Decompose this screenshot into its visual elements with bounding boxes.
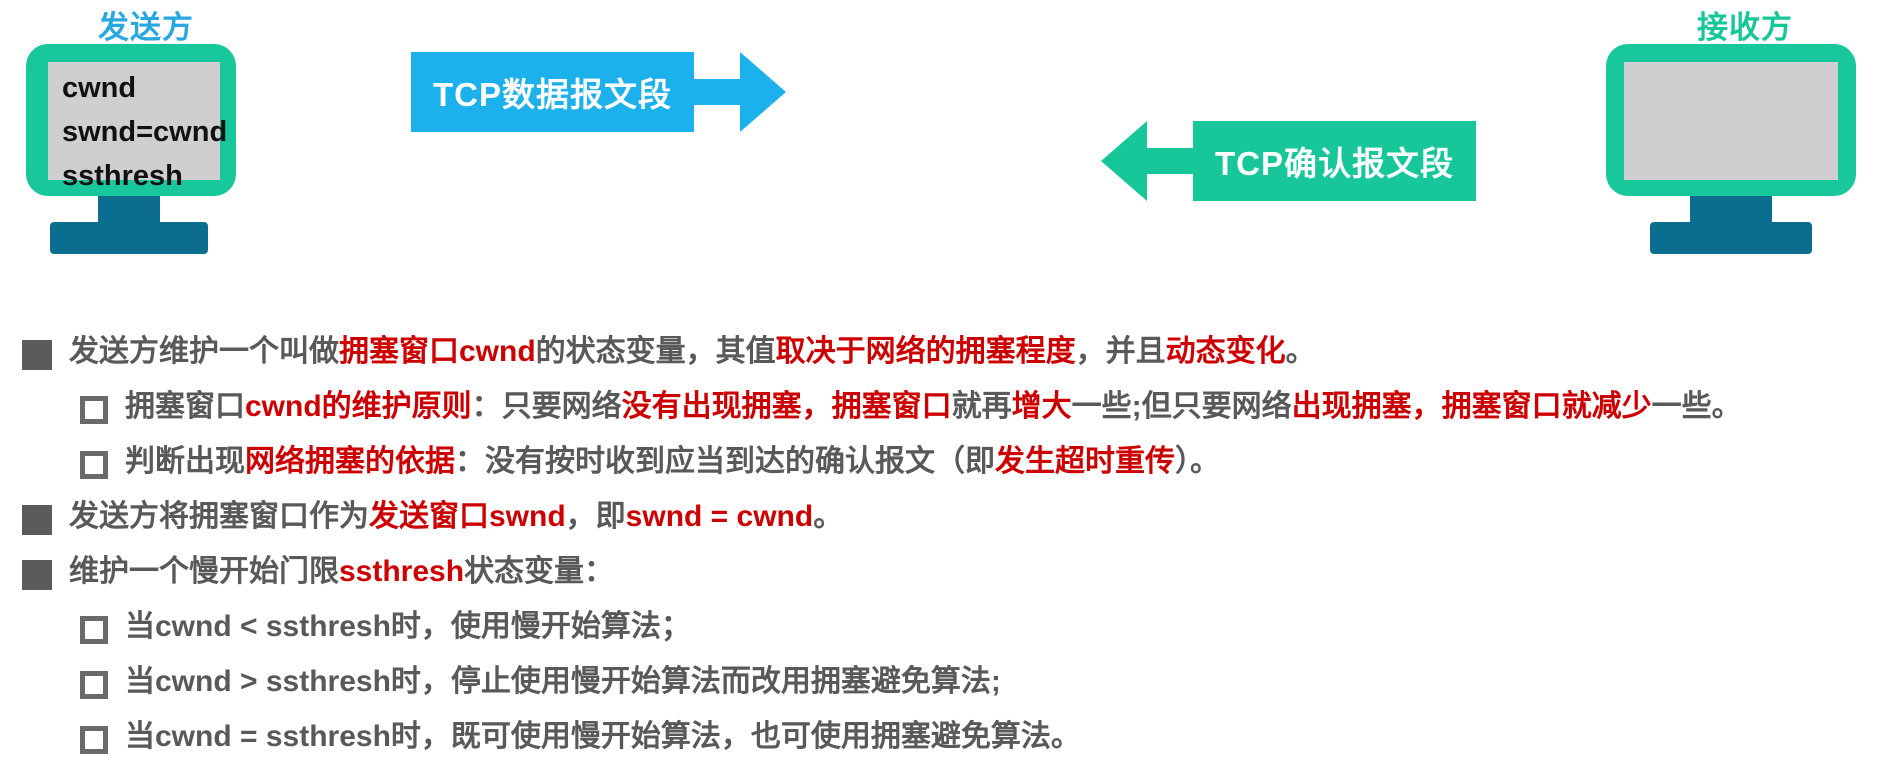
bullet-line: 发送方维护一个叫做拥塞窗口cwnd的状态变量，其值取决于网络的拥塞程度，并且动态… (0, 332, 1892, 387)
arrow-right-icon (740, 52, 786, 132)
tcp-data-segment-box: TCP数据报文段 (411, 52, 694, 132)
receiver-monitor-screen (1624, 62, 1838, 180)
highlighted-text: 网络拥塞的依据 (245, 445, 455, 478)
arrow-left-icon (1101, 121, 1147, 201)
bullet-square-filled-icon (22, 505, 52, 535)
highlighted-text: 动态变化 (1166, 335, 1286, 368)
plain-text: ：没有按时收到应当到达的确认报文（即 (455, 445, 995, 478)
highlighted-text: 发送窗口swnd (369, 500, 566, 533)
highlighted-text: cwnd的维护原则 (245, 390, 472, 423)
highlighted-text: 取决于网络的拥塞程度 (776, 335, 1076, 368)
sender-label: 发送方 (98, 2, 194, 47)
bullet-line: 当cwnd > ssthresh时，停止使用慢开始算法而改用拥塞避免算法; (0, 662, 1892, 717)
bullet-text: 判断出现网络拥塞的依据：没有按时收到应当到达的确认报文（即发生超时重传）。 (125, 442, 1220, 482)
receiver-monitor-neck (1690, 196, 1772, 222)
tcp-data-segment-label: TCP数据报文段 (433, 68, 672, 116)
plain-text: ，并且 (1076, 335, 1166, 368)
bullet-text: 维护一个慢开始门限ssthresh状态变量： (69, 552, 614, 592)
plain-text: 判断出现 (125, 445, 245, 478)
bullet-square-hollow-icon (80, 671, 108, 699)
sender-screen-line-swnd: swnd=cwnd (62, 118, 227, 147)
bullet-line: 判断出现网络拥塞的依据：没有按时收到应当到达的确认报文（即发生超时重传）。 (0, 442, 1892, 497)
plain-text: 一些。 (1652, 390, 1742, 423)
highlighted-text: 增大 (1012, 390, 1072, 423)
bullet-text: 当cwnd = ssthresh时，既可使用慢开始算法，也可使用拥塞避免算法。 (125, 717, 1081, 757)
bullet-square-hollow-icon (80, 451, 108, 479)
plain-text: 发送方将拥塞窗口作为 (69, 500, 369, 533)
bullet-square-hollow-icon (80, 396, 108, 424)
plain-text: 当cwnd > ssthresh时，停止使用慢开始算法而改用拥塞避免算法; (125, 665, 1001, 698)
bullet-text: 当cwnd < ssthresh时，使用慢开始算法； (125, 607, 691, 647)
plain-text: 当cwnd = ssthresh时，既可使用慢开始算法，也可使用拥塞避免算法。 (125, 720, 1081, 753)
bullet-text: 当cwnd > ssthresh时，停止使用慢开始算法而改用拥塞避免算法; (125, 662, 1001, 702)
bullet-square-filled-icon (22, 560, 52, 590)
plain-text: 拥塞窗口 (125, 390, 245, 423)
plain-text: ：只要网络 (472, 390, 622, 423)
bullet-square-hollow-icon (80, 616, 108, 644)
plain-text: 维护一个慢开始门限 (69, 555, 339, 588)
bullet-line: 拥塞窗口cwnd的维护原则：只要网络没有出现拥塞，拥塞窗口就再增大一些;但只要网… (0, 387, 1892, 442)
tcp-ack-segment-arrow: TCP确认报文段 (1101, 121, 1476, 201)
plain-text: 一些;但只要网络 (1072, 390, 1292, 423)
plain-text: 。 (1286, 335, 1316, 368)
bullet-text: 发送方将拥塞窗口作为发送窗口swnd，即swnd = cwnd。 (69, 497, 843, 537)
bullet-square-hollow-icon (80, 726, 108, 754)
plain-text: 当cwnd < ssthresh时，使用慢开始算法； (125, 610, 691, 643)
tcp-ack-segment-label: TCP确认报文段 (1215, 137, 1454, 185)
highlighted-text: 没有出现拥塞，拥塞窗口 (622, 390, 952, 423)
bullet-line: 发送方将拥塞窗口作为发送窗口swnd，即swnd = cwnd。 (0, 497, 1892, 552)
plain-text: 状态变量： (464, 555, 614, 588)
plain-text: 发送方维护一个叫做 (69, 335, 339, 368)
plain-text: 的状态变量，其值 (536, 335, 776, 368)
sender-screen-line-cwnd: cwnd (62, 74, 136, 103)
highlighted-text: 发生超时重传 (995, 445, 1175, 478)
plain-text: 就再 (952, 390, 1012, 423)
protocol-diagram: 发送方 接收方 cwnd swnd=cwnd ssthresh TCP数据报文段… (0, 0, 1892, 320)
tcp-data-segment-arrow: TCP数据报文段 (411, 52, 786, 132)
sender-screen-line-ssthresh: ssthresh (62, 162, 183, 191)
bullet-line: 维护一个慢开始门限ssthresh状态变量： (0, 552, 1892, 607)
sender-monitor-neck (98, 196, 160, 222)
receiver-monitor-base (1650, 222, 1812, 254)
receiver-label: 接收方 (1697, 2, 1793, 47)
highlighted-text: 出现拥塞，拥塞窗口就减少 (1292, 390, 1652, 423)
sender-monitor-base (50, 222, 208, 254)
plain-text: ）。 (1175, 445, 1220, 478)
bullet-list: 发送方维护一个叫做拥塞窗口cwnd的状态变量，其值取决于网络的拥塞程度，并且动态… (0, 332, 1892, 772)
bullet-line: 当cwnd = ssthresh时，既可使用慢开始算法，也可使用拥塞避免算法。 (0, 717, 1892, 772)
plain-text: 。 (813, 500, 843, 533)
ack-arrow-shaft (1147, 148, 1193, 174)
bullet-text: 发送方维护一个叫做拥塞窗口cwnd的状态变量，其值取决于网络的拥塞程度，并且动态… (69, 332, 1316, 372)
bullet-square-filled-icon (22, 340, 52, 370)
bullet-line: 当cwnd < ssthresh时，使用慢开始算法； (0, 607, 1892, 662)
tcp-ack-segment-box: TCP确认报文段 (1193, 121, 1476, 201)
bullet-text: 拥塞窗口cwnd的维护原则：只要网络没有出现拥塞，拥塞窗口就再增大一些;但只要网… (125, 387, 1742, 427)
highlighted-text: 拥塞窗口cwnd (339, 335, 536, 368)
plain-text: ，即 (566, 500, 626, 533)
data-arrow-shaft (694, 79, 740, 105)
highlighted-text: swnd = cwnd (626, 500, 814, 533)
highlighted-text: ssthresh (339, 555, 464, 588)
